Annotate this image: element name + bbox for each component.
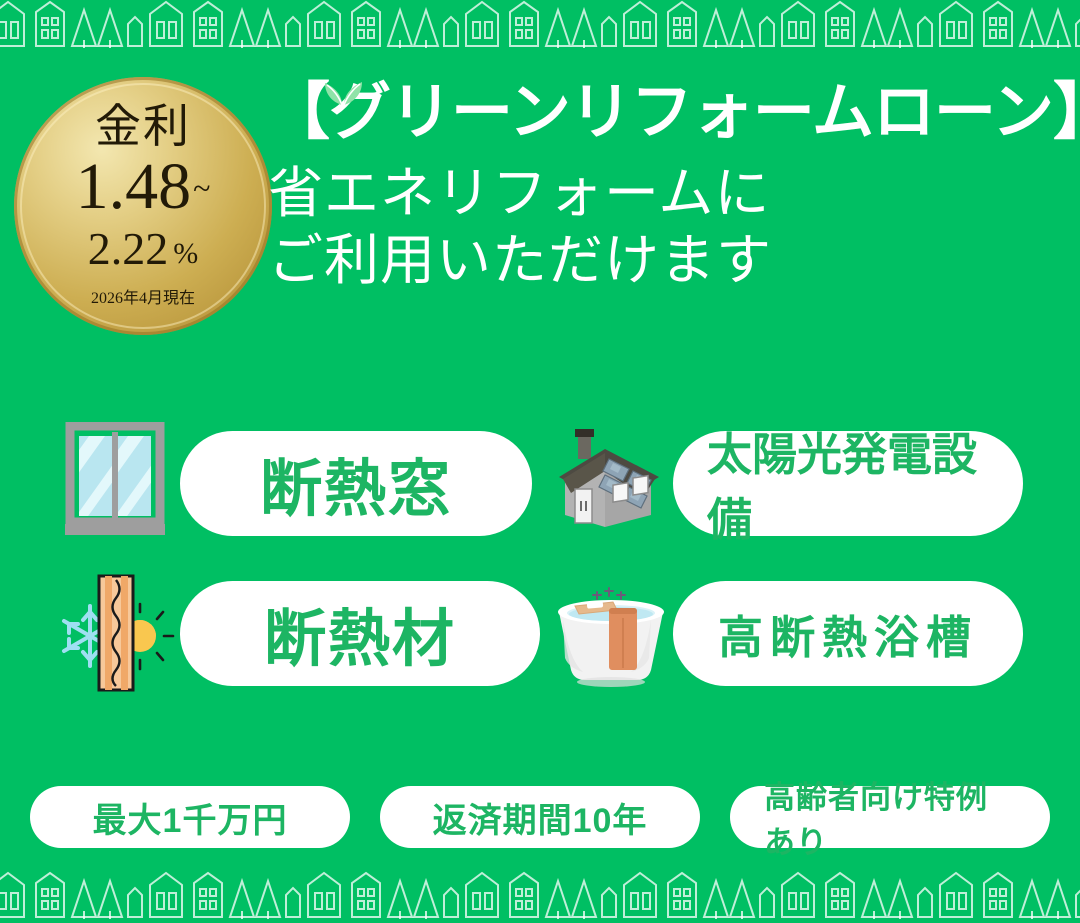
feature-list: 断熱窓 (0, 408, 1080, 708)
badge-rate-from: 1.48 (76, 154, 192, 220)
badge-date-note: 2026年4月現在 (91, 284, 195, 308)
interest-rate-badge: 金利 1.48~ 2.22% 2026年4月現在 (14, 77, 272, 335)
feature-label-insulated-window: 断熱窓 (260, 438, 452, 528)
badge-label-kinri: 金利 (95, 104, 191, 150)
top-border-pattern (0, 0, 1080, 52)
bottom-pill-repayment-period[interactable]: 返済期間10年 (380, 786, 700, 848)
headline-block: 【グリーンリフォームローン】 省エネリフォームに ご利用いただけます (268, 82, 1068, 294)
page-title: 【グリーンリフォームローン】 (268, 82, 1068, 144)
headline-subtitle-line1: 省エネリフォームに (268, 160, 1068, 227)
bottom-pill-row: 最大1千万円 返済期間10年 高齢者向け特例あり (0, 786, 1080, 848)
feature-item-bathtub[interactable]: 高断熱浴槽 (540, 571, 1080, 696)
feature-pill-bathtub[interactable]: 高断熱浴槽 (673, 581, 1023, 686)
insulation-material-icon (55, 571, 180, 696)
badge-rate-to-row: 2.22% (88, 226, 199, 272)
feature-item-solar-equipment[interactable]: 太陽光発電設備 (540, 421, 1080, 546)
badge-inner-ring: 金利 1.48~ 2.22% 2026年4月現在 (20, 83, 266, 329)
feature-row-2: 断熱材 (0, 558, 1080, 708)
leaf-sprout-icon (320, 55, 366, 85)
page-title-text: 【グリーンリフォームローン】 (268, 78, 1080, 147)
feature-label-insulation-material: 断熱材 (264, 588, 456, 678)
feature-item-insulation-material[interactable]: 断熱材 (0, 571, 540, 696)
bottom-border-pattern (0, 871, 1080, 923)
bottom-pill-label-elderly-special: 高齢者向け特例あり (764, 772, 1016, 862)
bottom-pill-max-amount[interactable]: 最大1千万円 (30, 786, 350, 848)
feature-item-insulated-window[interactable]: 断熱窓 (0, 421, 540, 546)
badge-percent-sign: % (173, 239, 198, 269)
feature-pill-solar-equipment[interactable]: 太陽光発電設備 (673, 431, 1023, 536)
bottom-pill-label-repayment-period: 返済期間10年 (433, 793, 648, 842)
badge-rate-to: 2.22 (88, 226, 169, 272)
bottom-pill-elderly-special[interactable]: 高齢者向け特例あり (730, 786, 1050, 848)
solar-house-icon (548, 421, 673, 546)
feature-pill-insulation-material[interactable]: 断熱材 (180, 581, 540, 686)
insulated-window-icon (55, 421, 180, 546)
promo-banner: 金利 1.48~ 2.22% 2026年4月現在 【グリーンリフォームローン】 (0, 0, 1080, 923)
feature-pill-insulated-window[interactable]: 断熱窓 (180, 431, 532, 536)
badge-rate-from-row: 1.48~ (76, 154, 211, 220)
headline-subtitle-line2: ご利用いただけます (268, 227, 1068, 294)
bottom-pill-label-max-amount: 最大1千万円 (93, 793, 288, 842)
feature-row-1: 断熱窓 (0, 408, 1080, 558)
badge-tilde: ~ (193, 172, 210, 204)
feature-label-bathtub: 高断熱浴槽 (718, 601, 978, 666)
feature-label-solar-equipment: 太陽光発電設備 (707, 418, 989, 548)
high-insulation-bathtub-icon (548, 571, 673, 696)
